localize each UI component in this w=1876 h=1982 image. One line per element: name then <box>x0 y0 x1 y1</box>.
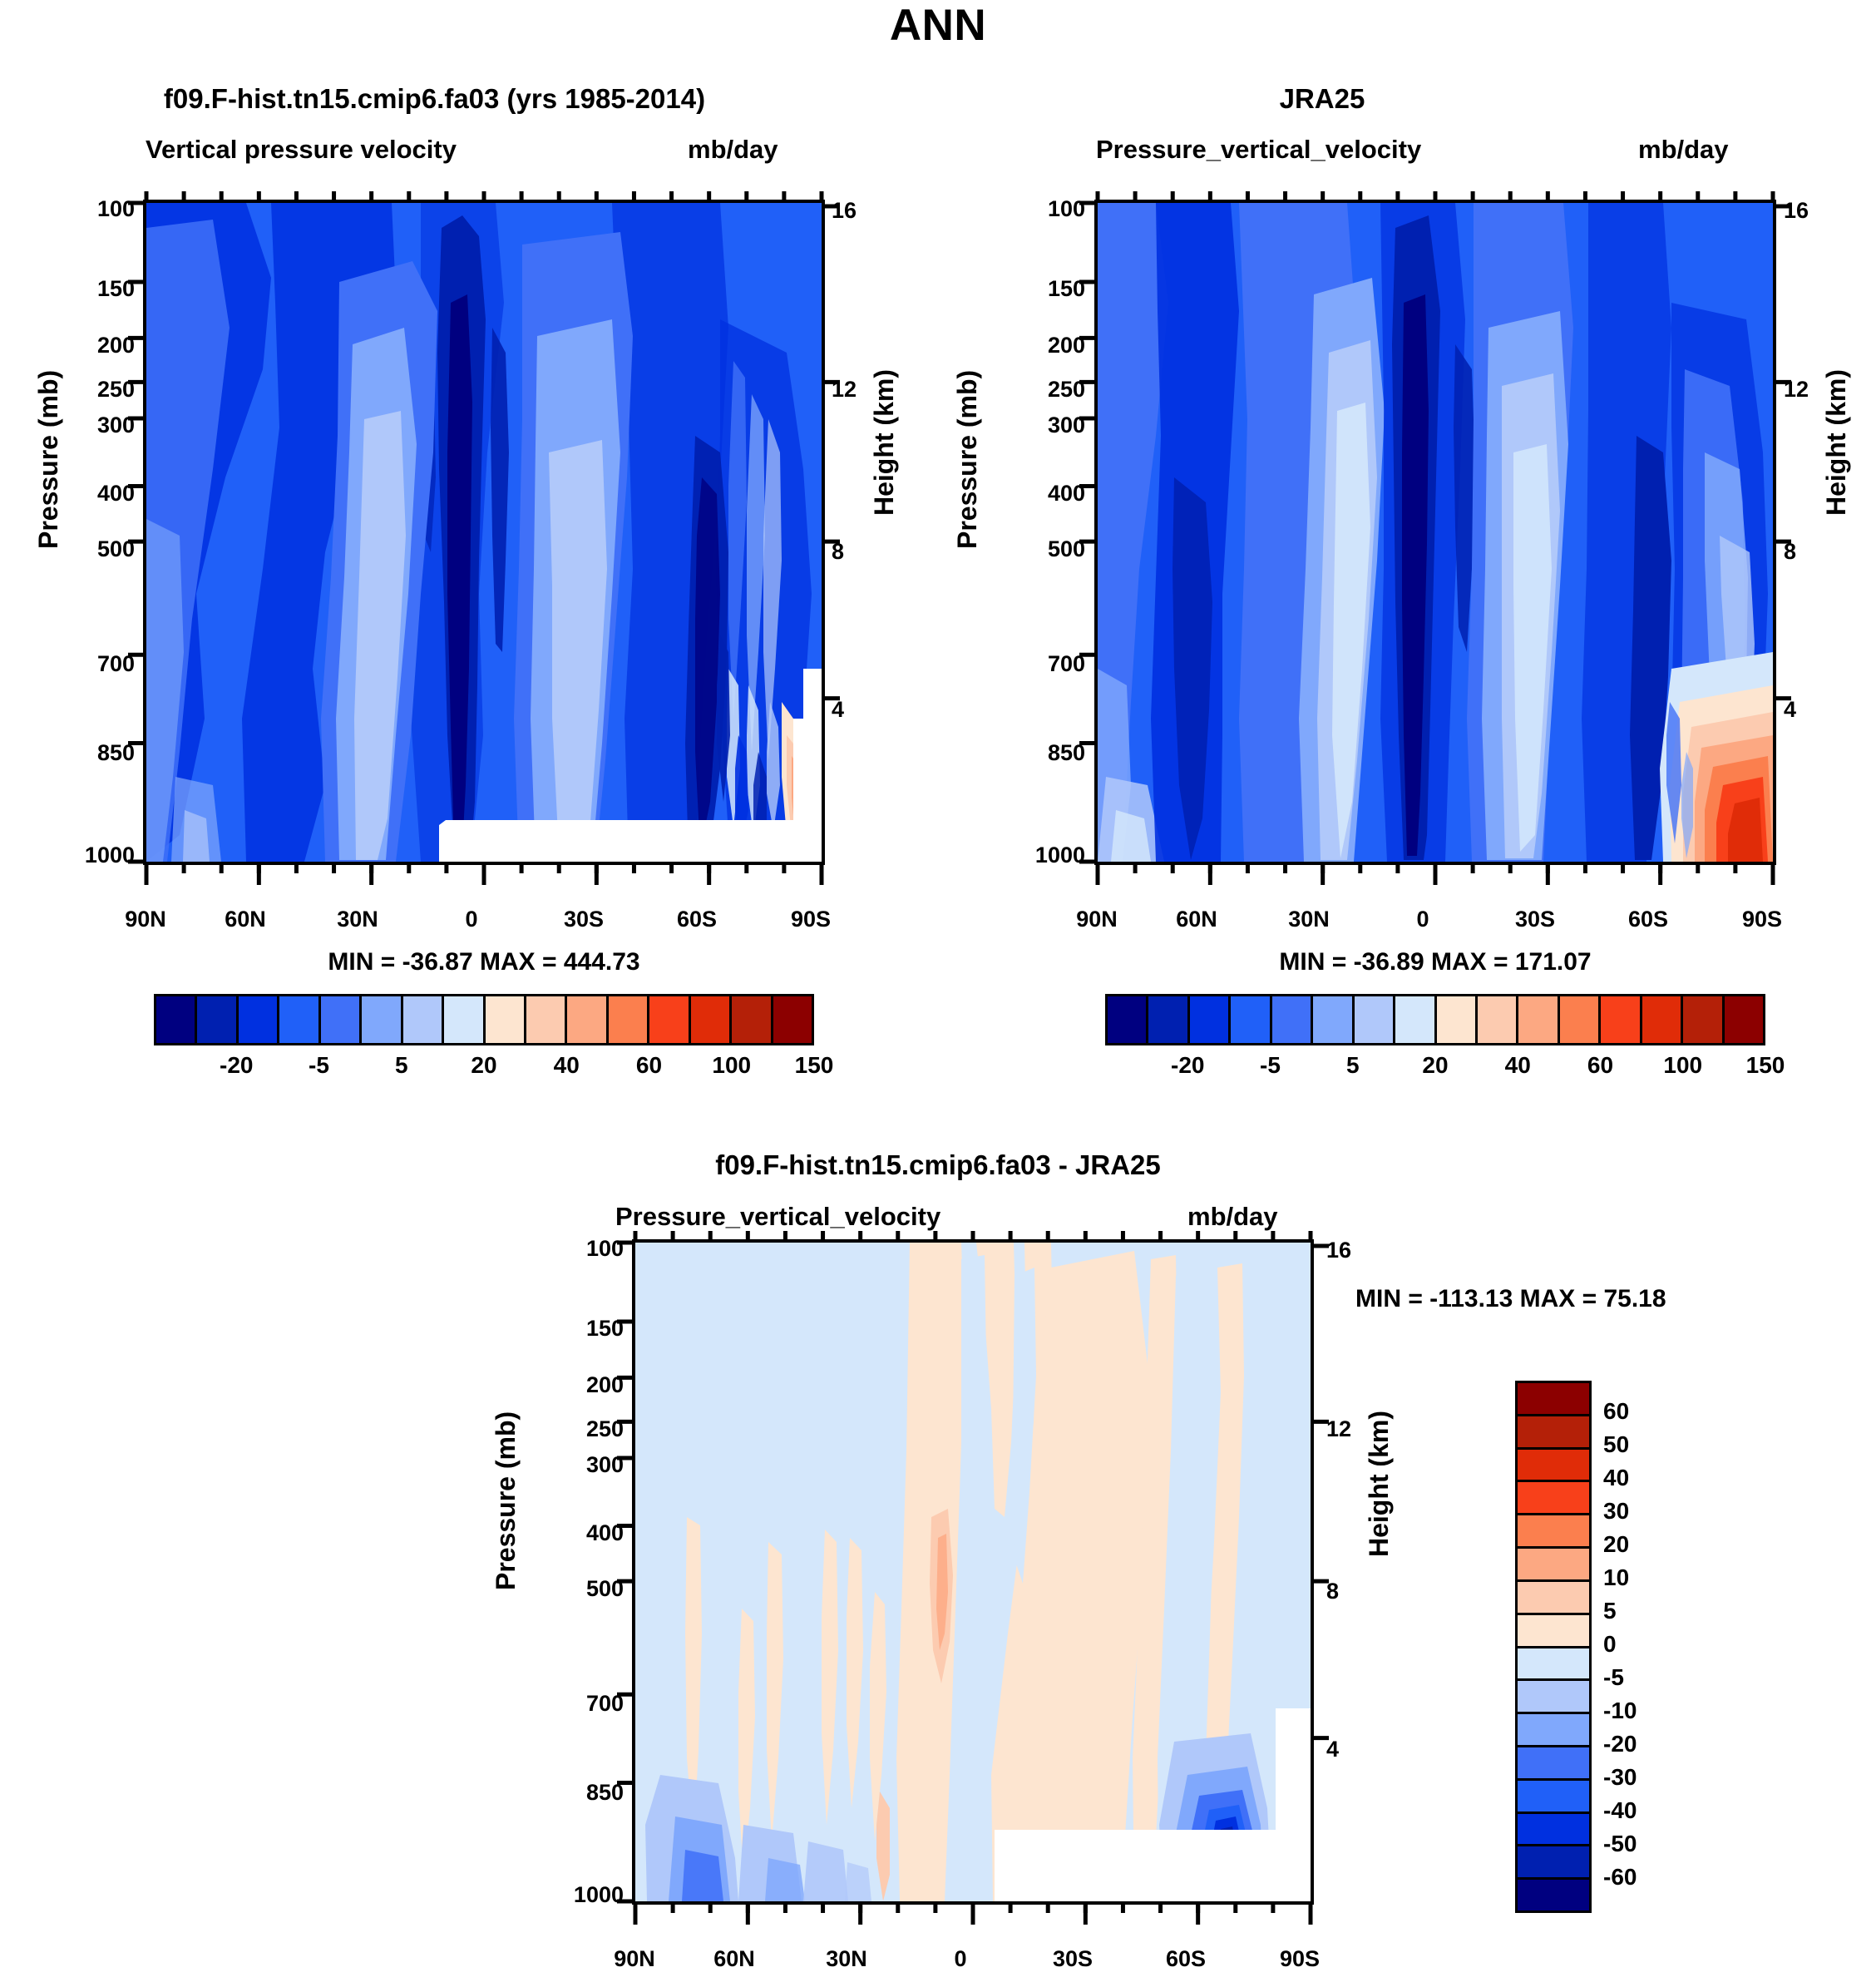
y2-axis-title-diff: Height (km) <box>1364 1411 1395 1557</box>
y-axis-title-obs: Pressure (mb) <box>952 370 983 549</box>
y-tick-diff-1: 150 <box>541 1316 624 1342</box>
y-tick-model-5: 400 <box>52 481 135 507</box>
colorbar-absolute-obs[interactable]: -20-55204060100150 <box>1105 994 1765 1094</box>
y-tick-model-2: 200 <box>52 333 135 358</box>
y-tick-model-8: 850 <box>52 740 135 766</box>
colorbar-tick-label: -20 <box>1154 1052 1221 1079</box>
minmax-diff: MIN = -113.13 MAX = 75.18 <box>1355 1285 1821 1313</box>
y-tick-obs-8: 850 <box>1002 740 1085 766</box>
y2-axis-title-obs: Height (km) <box>1821 369 1852 516</box>
plot-area-model[interactable] <box>143 200 825 865</box>
colorbar-tick-label: -20 <box>203 1052 269 1079</box>
colorbar-cell <box>1518 1646 1589 1679</box>
y-tick-obs-2: 200 <box>1002 333 1085 358</box>
colorbar-cell <box>1108 996 1146 1043</box>
colorbar-cell <box>1228 996 1269 1043</box>
colorbar-tick-label: -10 <box>1603 1698 1637 1724</box>
y2-tick-model-2: 8 <box>832 539 844 565</box>
colorbar-cell <box>1518 1745 1589 1778</box>
colorbar-tick-label: 5 <box>1603 1598 1617 1624</box>
colorbar-cell <box>1518 1579 1589 1613</box>
colorbar-tick-label: 60 <box>1567 1052 1634 1079</box>
y2-tick-model-0: 16 <box>832 198 857 224</box>
colorbar-cell <box>359 996 400 1043</box>
panel-variable-diff: Pressure_vertical_velocity <box>615 1202 940 1232</box>
colorbar-absolute-model[interactable]: -20-55204060100150 <box>154 994 814 1094</box>
colorbar-tick-label: -20 <box>1603 1731 1637 1757</box>
colorbar-cell <box>1722 996 1763 1043</box>
colorbar-cell <box>1518 1877 1589 1910</box>
colorbar-tick-label: 20 <box>1402 1052 1469 1079</box>
minmax-obs: MIN = -36.89 MAX = 171.07 <box>1094 948 1776 976</box>
colorbar-cell <box>1518 1678 1589 1712</box>
colorbar-tick-label: 60 <box>616 1052 683 1079</box>
y-tick-obs-9: 1000 <box>985 843 1085 868</box>
colorbar-cell <box>1187 996 1228 1043</box>
y-tick-diff-4: 300 <box>541 1452 624 1478</box>
y-tick-model-4: 300 <box>52 413 135 438</box>
y-tick-obs-0: 100 <box>1002 196 1085 222</box>
panel-units-obs: mb/day <box>1638 135 1729 165</box>
y-tick-diff-7: 700 <box>541 1691 624 1717</box>
panel-title-diff: f09.F-hist.tn15.cmip6.fa03 - JRA25 <box>439 1149 1437 1181</box>
plot-area-obs[interactable] <box>1094 200 1776 865</box>
panel-units-diff: mb/day <box>1187 1202 1278 1232</box>
y-tick-obs-3: 250 <box>1002 377 1085 403</box>
y2-tick-obs-2: 8 <box>1784 539 1796 565</box>
colorbar-tick-label: 150 <box>1732 1052 1799 1079</box>
colorbar-cell <box>1518 1414 1589 1447</box>
colorbar-cell <box>1516 996 1557 1043</box>
y2-tick-diff-3: 4 <box>1326 1737 1339 1762</box>
colorbar-tick-label: 5 <box>368 1052 435 1079</box>
colorbar-cell <box>1352 996 1393 1043</box>
colorbar-cell <box>1518 1778 1589 1811</box>
colorbar-cell <box>1598 996 1639 1043</box>
colorbar-tick-label: 40 <box>1484 1052 1551 1079</box>
colorbar-cell <box>524 996 565 1043</box>
contour-field-diff <box>635 1243 1311 1901</box>
panel-title-obs: JRA25 <box>981 83 1663 115</box>
colorbar-cell <box>1518 1546 1589 1579</box>
y-tick-diff-8: 850 <box>541 1780 624 1806</box>
colorbar-tick-label: 10 <box>1603 1564 1629 1591</box>
colorbar-cell <box>1475 996 1516 1043</box>
minmax-model: MIN = -36.87 MAX = 444.73 <box>143 948 825 976</box>
y2-tick-diff-1: 12 <box>1326 1416 1351 1442</box>
colorbar-tick-label: 5 <box>1320 1052 1386 1079</box>
y-tick-model-0: 100 <box>52 196 135 222</box>
colorbar-cell <box>1558 996 1598 1043</box>
y-tick-obs-4: 300 <box>1002 413 1085 438</box>
y-tick-diff-6: 500 <box>541 1576 624 1602</box>
colorbar-cell <box>647 996 688 1043</box>
colorbar-cell <box>565 996 605 1043</box>
colorbar-tick-label: 60 <box>1603 1398 1629 1425</box>
y2-axis-title-model: Height (km) <box>869 369 900 516</box>
colorbar-cell <box>1640 996 1681 1043</box>
colorbar-cell <box>729 996 770 1043</box>
colorbar-cell <box>1393 996 1434 1043</box>
colorbar-tick-label: 0 <box>1603 1631 1617 1658</box>
colorbar-cell <box>401 996 442 1043</box>
colorbar-cell <box>1518 1447 1589 1480</box>
colorbar-cell <box>277 996 318 1043</box>
colorbar-difference[interactable]: 60504030201050-5-10-20-30-40-50-60 <box>1515 1381 1700 1913</box>
colorbar-tick-label: -30 <box>1603 1764 1637 1791</box>
y-tick-model-1: 150 <box>52 276 135 302</box>
colorbar-tick-label: -50 <box>1603 1831 1637 1857</box>
colorbar-cell <box>1518 1712 1589 1745</box>
colorbar-tick-label: -5 <box>286 1052 353 1079</box>
colorbar-tick-label: 100 <box>1650 1052 1716 1079</box>
y-tick-obs-7: 700 <box>1002 651 1085 677</box>
panel-title-model: f09.F-hist.tn15.cmip6.fa03 (yrs 1985-201… <box>0 83 869 115</box>
colorbar-tick-label: 100 <box>699 1052 765 1079</box>
figure-main-title: ANN <box>0 0 1876 51</box>
colorbar-cell <box>1146 996 1187 1043</box>
panel-variable-obs: Pressure_vertical_velocity <box>1096 135 1421 165</box>
colorbar-tick-label: 150 <box>781 1052 847 1079</box>
y-tick-diff-0: 100 <box>541 1236 624 1262</box>
y2-tick-obs-3: 4 <box>1784 697 1796 723</box>
colorbar-cell <box>1270 996 1311 1043</box>
colorbar-cell <box>1518 1613 1589 1646</box>
colorbar-cell <box>1518 1480 1589 1513</box>
colorbar-cell <box>1518 1811 1589 1845</box>
colorbar-cell <box>156 996 195 1043</box>
colorbar-cell <box>1518 1383 1589 1414</box>
plot-area-diff[interactable] <box>632 1239 1314 1905</box>
colorbar-tick-label: 40 <box>1603 1465 1629 1491</box>
colorbar-cell <box>1518 1844 1589 1877</box>
panel-variable-model: Vertical pressure velocity <box>146 135 457 165</box>
x-tick-diff-6: 90S <box>1217 1946 1383 1972</box>
colorbar-cell <box>1681 996 1721 1043</box>
y-tick-model-7: 700 <box>52 651 135 677</box>
y-tick-obs-1: 150 <box>1002 276 1085 302</box>
x-tick-model-6: 90S <box>728 907 894 932</box>
y-tick-diff-5: 400 <box>541 1520 624 1546</box>
y-tick-obs-6: 500 <box>1002 536 1085 562</box>
colorbar-cell <box>195 996 235 1043</box>
colorbar-tick-label: 50 <box>1603 1431 1629 1458</box>
colorbar-cell <box>442 996 482 1043</box>
colorbar-cell <box>689 996 729 1043</box>
colorbar-tick-label: 40 <box>533 1052 600 1079</box>
panel-units-model: mb/day <box>688 135 778 165</box>
y-axis-title-diff: Pressure (mb) <box>491 1411 521 1590</box>
contour-field-model <box>146 203 822 862</box>
colorbar-cell <box>771 996 812 1043</box>
y2-tick-obs-1: 12 <box>1784 377 1809 403</box>
colorbar-cell <box>1518 1513 1589 1546</box>
x-tick-obs-6: 90S <box>1679 907 1845 932</box>
colorbar-tick-label: -5 <box>1237 1052 1304 1079</box>
colorbar-tick-label: 30 <box>1603 1498 1629 1525</box>
y2-tick-diff-2: 8 <box>1326 1579 1339 1604</box>
y-tick-obs-5: 400 <box>1002 481 1085 507</box>
y2-tick-obs-0: 16 <box>1784 198 1809 224</box>
y2-tick-model-1: 12 <box>832 377 857 403</box>
contour-field-obs <box>1098 203 1773 862</box>
colorbar-tick-label: 20 <box>451 1052 517 1079</box>
colorbar-cell <box>606 996 647 1043</box>
colorbar-cell <box>1434 996 1475 1043</box>
y2-tick-diff-0: 16 <box>1326 1238 1351 1263</box>
colorbar-cell <box>236 996 277 1043</box>
colorbar-cell <box>318 996 359 1043</box>
colorbar-tick-label: -40 <box>1603 1797 1637 1824</box>
y-tick-diff-2: 200 <box>541 1372 624 1398</box>
y2-tick-model-3: 4 <box>832 697 844 723</box>
colorbar-cell <box>483 996 524 1043</box>
y-tick-model-6: 500 <box>52 536 135 562</box>
colorbar-cell <box>1311 996 1351 1043</box>
colorbar-tick-label: -60 <box>1603 1864 1637 1891</box>
y-tick-model-3: 250 <box>52 377 135 403</box>
y-tick-diff-3: 250 <box>541 1416 624 1442</box>
y-tick-model-9: 1000 <box>35 843 135 868</box>
colorbar-tick-label: 20 <box>1603 1531 1629 1558</box>
y-tick-diff-9: 1000 <box>524 1882 624 1908</box>
colorbar-tick-label: -5 <box>1603 1664 1624 1691</box>
